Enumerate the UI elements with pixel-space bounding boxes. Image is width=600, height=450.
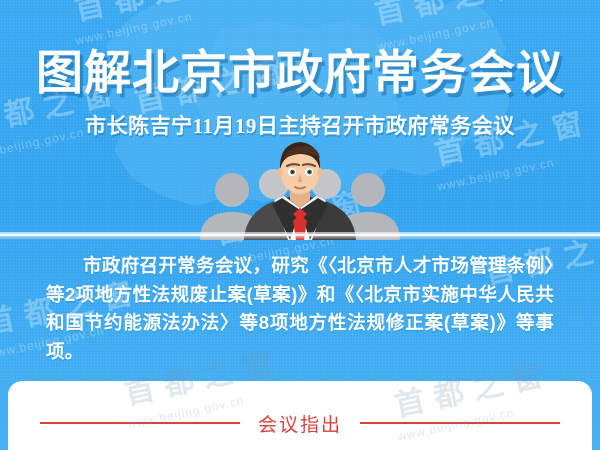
speaker-illustration — [0, 140, 600, 240]
rule-right — [360, 422, 560, 424]
rule-left — [40, 422, 240, 424]
infographic-poster: 首都之窗 www.beijing.gov.cn 首都之窗 www.beijing… — [0, 0, 600, 450]
summary-paragraph: 市政府召开常务会议，研究《〈北京市人才市场管理条例〉等2项地方性法规废止案(草案… — [46, 252, 554, 366]
section-header: 会议指出 — [8, 405, 592, 441]
section-title: 会议指出 — [258, 410, 342, 437]
page-title: 图解北京市政府常务会议 — [0, 34, 600, 103]
page-subtitle: 市长陈吉宁11月19日主持召开市政府常务会议 — [0, 110, 600, 140]
desk-edge-line — [0, 234, 600, 236]
